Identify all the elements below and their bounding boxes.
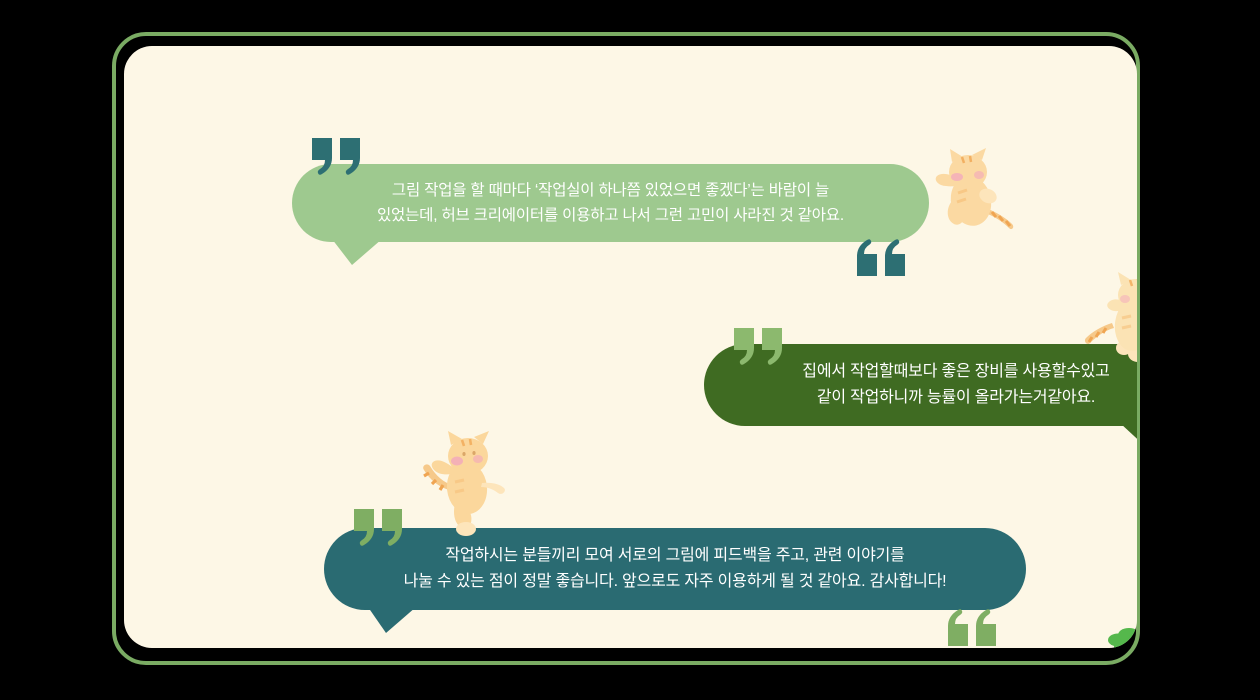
testimonial-bubble-tail-2 <box>1120 423 1137 449</box>
testimonial-bubble-tail-3 <box>368 607 416 633</box>
cream-content-card: 그림 작업을 할 때마다 ‘작업실이 하나쯤 있었으면 좋겠다’는 바람이 늘 … <box>124 46 1137 648</box>
testimonial-text-1: 그림 작업을 할 때마다 ‘작업실이 하나쯤 있었으면 좋겠다’는 바람이 늘 … <box>318 178 903 228</box>
cat-illustration-bottom-left <box>412 428 517 543</box>
strawberry-planters <box>1096 620 1137 648</box>
testimonial-text-3: 작업하시는 분들끼리 모여 서로의 그림에 피드백을 주고, 관련 이야기를 나… <box>350 543 1000 595</box>
close-quote-icon-1 <box>855 238 909 278</box>
testimonial-bubble-tail-1 <box>332 239 382 265</box>
testimonial-board: 그림 작업을 할 때마다 ‘작업실이 하나쯤 있었으면 좋겠다’는 바람이 늘 … <box>0 0 1260 700</box>
open-quote-icon-3 <box>352 507 406 547</box>
open-quote-icon-1 <box>310 136 364 176</box>
close-quote-icon-3 <box>946 608 1000 648</box>
cat-illustration-middle-right <box>1076 268 1137 373</box>
cat-illustration-top-right <box>924 146 1019 243</box>
open-quote-icon-2 <box>732 326 786 366</box>
testimonial-bubble-1: 그림 작업을 할 때마다 ‘작업실이 하나쯤 있었으면 좋겠다’는 바람이 늘 … <box>292 164 929 242</box>
